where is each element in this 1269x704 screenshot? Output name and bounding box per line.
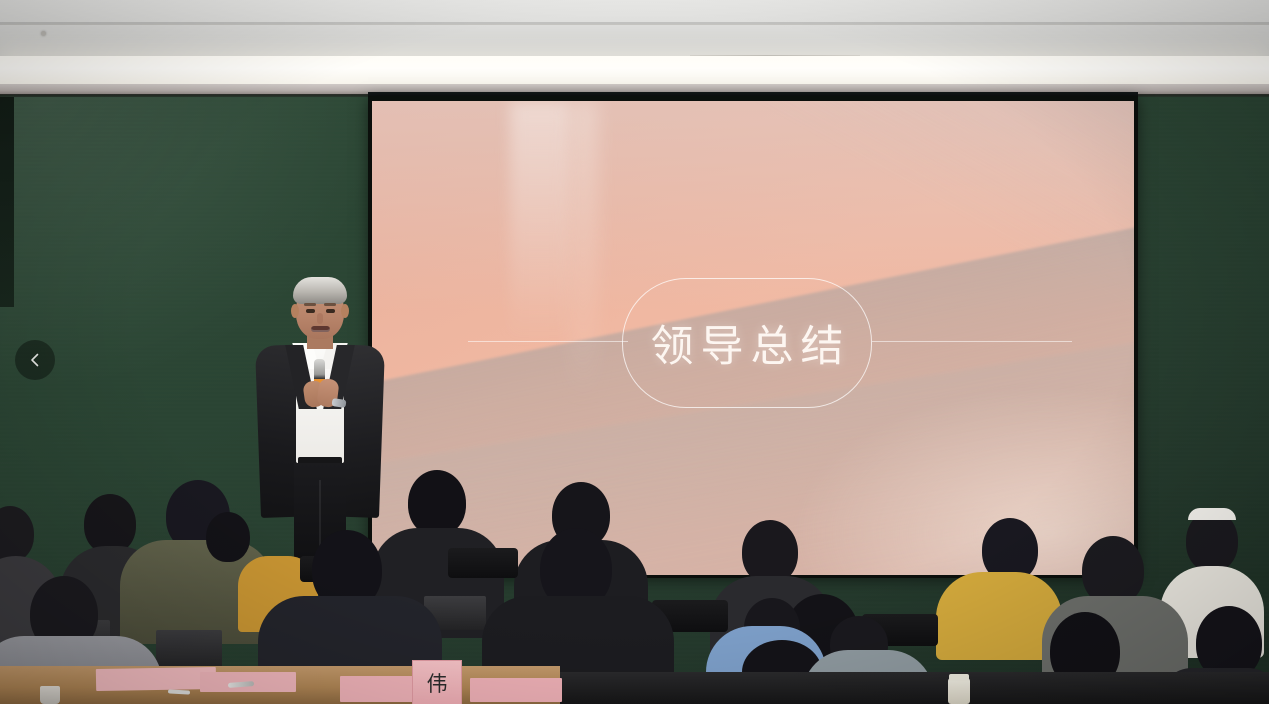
name-card-text: 伟 (427, 668, 448, 698)
chevron-left-icon (27, 352, 43, 368)
headband-accessory (1188, 508, 1236, 520)
water-bottle (948, 678, 970, 704)
paper-document (96, 667, 216, 691)
speaker-ear-left (291, 304, 299, 318)
photo-viewer: 领导总结 (0, 0, 1269, 704)
ceiling (0, 0, 1269, 58)
ceiling-light-strip (0, 56, 1269, 84)
cup (40, 686, 60, 704)
water-bottle-cap (949, 674, 969, 681)
projection-screen: 领导总结 (372, 101, 1134, 575)
speaker-eye-left (306, 309, 315, 313)
slide-title-pill: 领导总结 (622, 278, 872, 408)
chair-back (448, 548, 518, 578)
projector-streak (510, 101, 568, 341)
ceiling-sensor-icon (41, 31, 46, 36)
speaker-mouth (311, 326, 330, 332)
slide-rule-right (872, 341, 1072, 342)
wall-side-panel (0, 97, 14, 307)
previous-photo-button[interactable] (15, 340, 55, 380)
desk-name-card: 伟 (412, 660, 462, 704)
laptop (156, 630, 222, 670)
speaker-brow-left (304, 303, 316, 306)
slide-rule-left (468, 341, 628, 342)
speaker-presenter (252, 275, 384, 575)
speaker-eye-right (326, 309, 335, 313)
speaker-nose (317, 313, 323, 324)
speaker-brow-right (324, 303, 336, 306)
slide-title: 领导总结 (644, 312, 851, 374)
ceiling-seam-secondary (0, 24, 1269, 25)
front-table-right (560, 672, 1269, 704)
projector-streak-2 (568, 101, 598, 401)
paper-document (470, 678, 562, 702)
speaker-ear-right (341, 304, 349, 318)
speaker-hair (293, 277, 347, 304)
